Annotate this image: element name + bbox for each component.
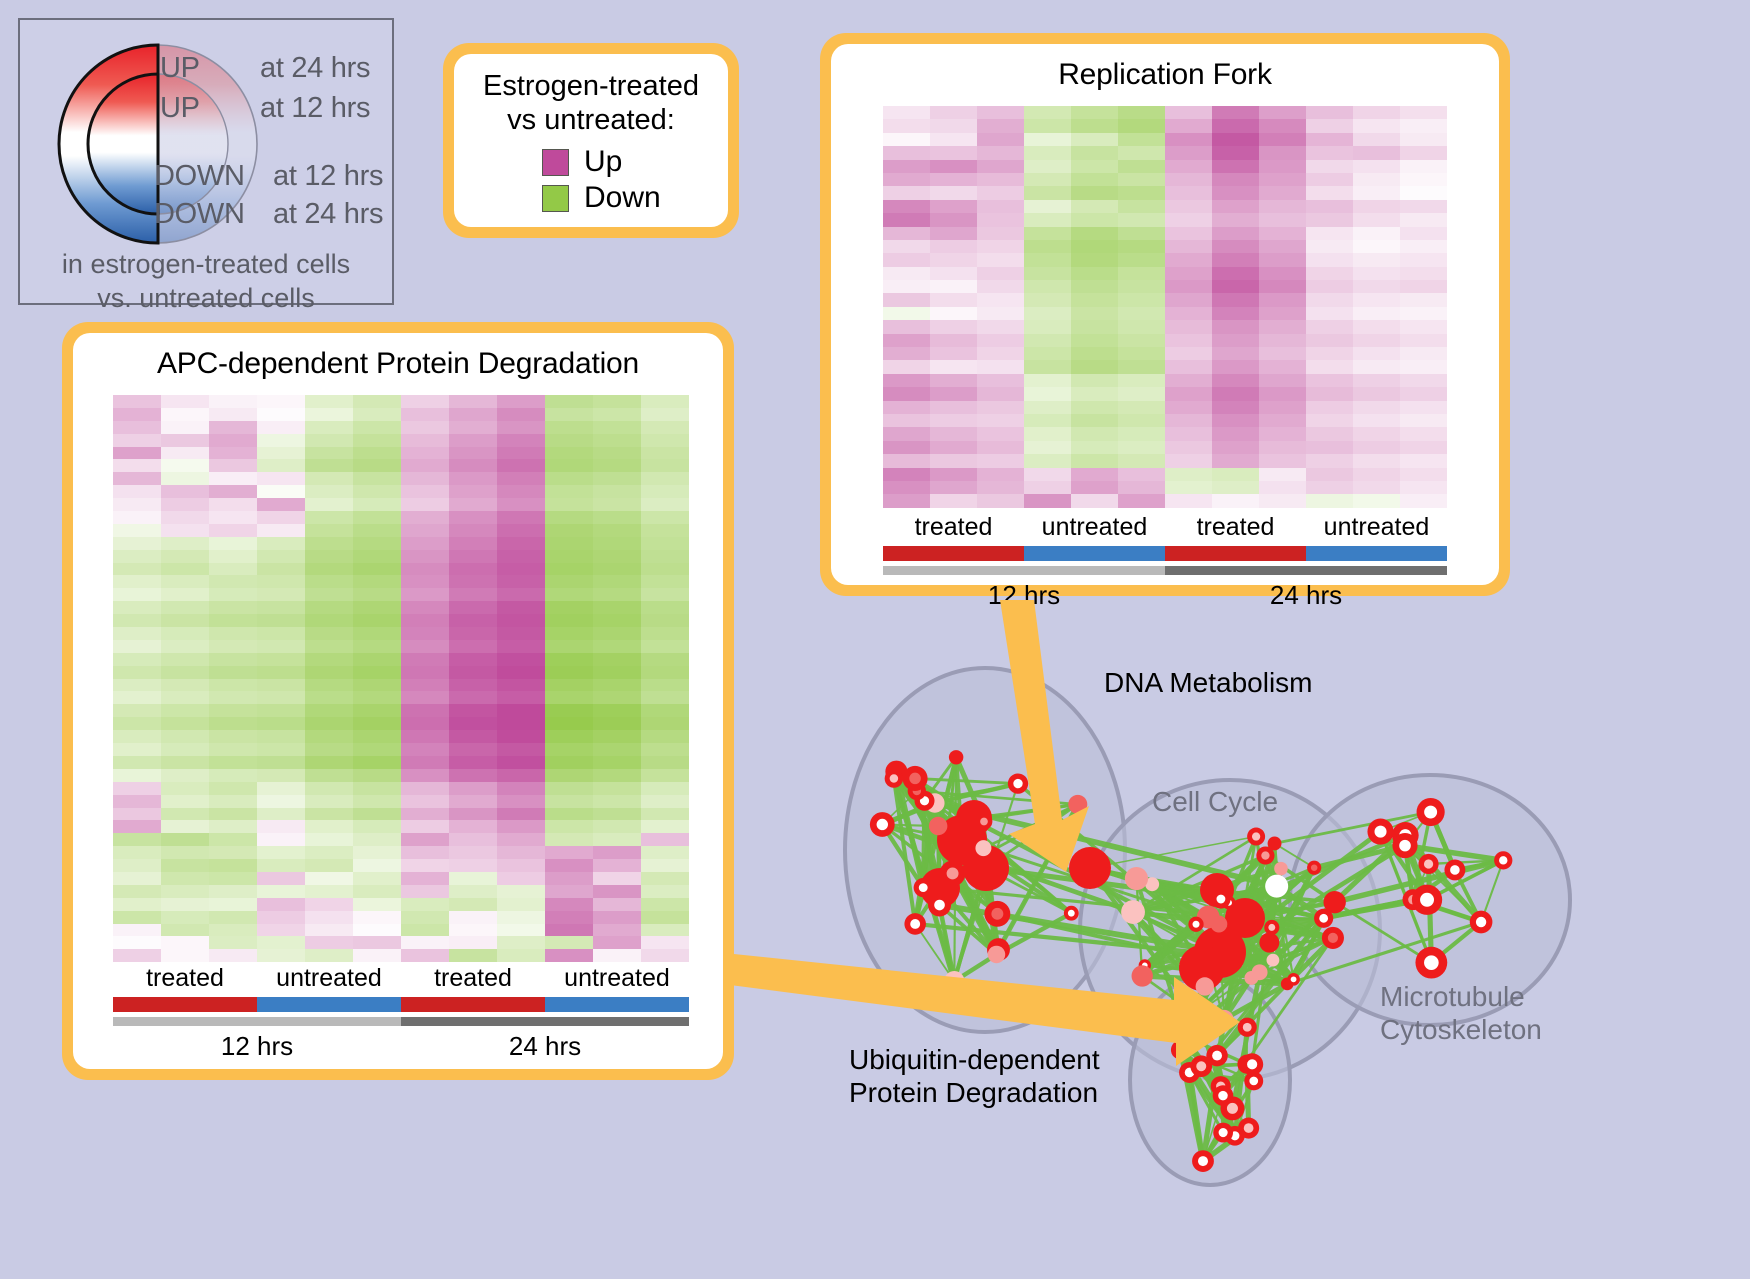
apc-panel: APC-dependent Protein Degradation treate… (62, 322, 734, 1080)
heatmap-cell (161, 666, 209, 679)
network-node[interactable] (1252, 964, 1268, 980)
heatmap-cell (113, 872, 161, 885)
network-node[interactable] (1215, 1010, 1234, 1029)
heatmap-cell (209, 717, 257, 730)
heatmap-cell (449, 833, 497, 846)
heatmap-cell (593, 691, 641, 704)
heatmap-cell (209, 640, 257, 653)
network-node[interactable] (1323, 891, 1345, 913)
heatmap-cell (545, 936, 593, 949)
heatmap-cell (257, 691, 305, 704)
heatmap-cell (641, 949, 689, 962)
heatmap-cell (883, 119, 930, 132)
apc-heatmap (113, 395, 689, 962)
heatmap-cell (161, 898, 209, 911)
heatmap-cell (305, 795, 353, 808)
heatmap-cell (161, 769, 209, 782)
heatmap-cell (930, 441, 977, 454)
heatmap-cell (401, 808, 449, 821)
heatmap-cell (593, 846, 641, 859)
heatmap-cell (883, 441, 930, 454)
heatmap-cell (1353, 427, 1400, 440)
heatmap-cell (497, 614, 545, 627)
heatmap-cell (497, 537, 545, 550)
heatmap-cell (257, 936, 305, 949)
heatmap-cell (305, 550, 353, 563)
heatmap-cell (209, 421, 257, 434)
heatmap-cell (209, 743, 257, 756)
heatmap-cell (353, 485, 401, 498)
heatmap-cell (449, 408, 497, 421)
heatmap-cell (593, 408, 641, 421)
heatmap-cell (1165, 119, 1212, 132)
heatmap-cell (1400, 494, 1447, 507)
heatmap-cell (161, 614, 209, 627)
heatmap-cell (1212, 441, 1259, 454)
heatmap-cell (1071, 320, 1118, 333)
heatmap-cell (113, 717, 161, 730)
heatmap-cell (1118, 186, 1165, 199)
heatmap-cell (1400, 481, 1447, 494)
heatmap-cell (1165, 133, 1212, 146)
heatmap-cell (1071, 468, 1118, 481)
heatmap-cell (641, 537, 689, 550)
heatmap-cell (449, 447, 497, 460)
heatmap-cell (1024, 360, 1071, 373)
network-node[interactable] (949, 750, 963, 764)
heatmap-cell (449, 872, 497, 885)
heatmap-cell (209, 679, 257, 692)
heatmap-cell (1071, 387, 1118, 400)
heatmap-cell (883, 401, 930, 414)
axis-group-label: untreated (1024, 514, 1165, 542)
heatmap-cell (1306, 146, 1353, 159)
heatmap-cell (593, 614, 641, 627)
heatmap-cell (1212, 307, 1259, 320)
axis-treatment-bars (883, 546, 1447, 561)
heatmap-cell (1071, 267, 1118, 280)
heatmap-cell (113, 859, 161, 872)
heatmap-cell (161, 795, 209, 808)
heatmap-cell (641, 885, 689, 898)
network-node[interactable] (1267, 954, 1280, 967)
heatmap-cell (305, 434, 353, 447)
network-node[interactable] (929, 817, 947, 835)
heatmap-cell (883, 414, 930, 427)
heatmap-cell (641, 498, 689, 511)
heatmap-cell (930, 468, 977, 481)
heatmap-cell (1212, 133, 1259, 146)
heatmap-cell (1118, 441, 1165, 454)
heatmap-cell (1353, 494, 1400, 507)
heatmap-cell (883, 240, 930, 253)
heatmap-cell (257, 421, 305, 434)
network-node[interactable] (1068, 795, 1087, 814)
heatmap-cell (593, 601, 641, 614)
heatmap-cell (257, 730, 305, 743)
heatmap-cell (497, 782, 545, 795)
heatmap-cell (305, 911, 353, 924)
heatmap-cell (353, 550, 401, 563)
network-node[interactable] (988, 946, 1006, 964)
heatmap-cell (305, 820, 353, 833)
heatmap-cell (977, 360, 1024, 373)
network-node[interactable] (1121, 900, 1145, 924)
heatmap-cell (977, 481, 1024, 494)
heatmap-cell (305, 898, 353, 911)
heatmap-cell (113, 795, 161, 808)
heatmap-cell (1165, 441, 1212, 454)
heatmap-cell (497, 936, 545, 949)
heatmap-cell (161, 601, 209, 614)
heatmap-cell (209, 575, 257, 588)
cluster-label-microtubule-line1: Microtubule (1380, 980, 1542, 1013)
heatmap-cell (209, 730, 257, 743)
heatmap-cell (1353, 347, 1400, 360)
heatmap-cell (353, 653, 401, 666)
heatmap-cell (1259, 360, 1306, 373)
heatmap-cell (641, 524, 689, 537)
heatmap-cell (449, 679, 497, 692)
heatmap-cell (545, 408, 593, 421)
heatmap-cell (113, 808, 161, 821)
heatmap-cell (593, 743, 641, 756)
heatmap-cell (113, 782, 161, 795)
heatmap-cell (930, 160, 977, 173)
heatmap-cell (545, 730, 593, 743)
heatmap-cell (209, 885, 257, 898)
heatmap-cell (545, 666, 593, 679)
heatmap-cell (593, 756, 641, 769)
heatmap-cell (401, 459, 449, 472)
heatmap-cell (497, 949, 545, 962)
heatmap-cell (257, 833, 305, 846)
network-node[interactable] (1125, 867, 1148, 890)
heatmap-cell (593, 627, 641, 640)
heatmap-cell (593, 550, 641, 563)
heatmap-cell (353, 756, 401, 769)
heatmap-cell (449, 601, 497, 614)
heatmap-cell (1353, 441, 1400, 454)
heatmap-cell (161, 434, 209, 447)
network-node[interactable] (1069, 847, 1111, 889)
heatmap-cell (1400, 441, 1447, 454)
network-node[interactable] (1196, 977, 1214, 995)
heatmap-cell (545, 627, 593, 640)
heatmap-cell (305, 885, 353, 898)
heatmap-cell (1212, 146, 1259, 159)
heatmap-cell (257, 808, 305, 821)
heatmap-cell (1259, 267, 1306, 280)
heatmap-cell (1400, 227, 1447, 240)
heatmap-cell (305, 679, 353, 692)
expression-scale-legend: UP at 24 hrs UP at 12 hrs DOWN at 12 hrs… (18, 18, 394, 305)
heatmap-cell (1212, 173, 1259, 186)
heatmap-cell (930, 227, 977, 240)
heatmap-cell (977, 253, 1024, 266)
heatmap-cell (593, 898, 641, 911)
heatmap-cell (1306, 200, 1353, 213)
heatmap-cell (305, 472, 353, 485)
heatmap-cell (161, 459, 209, 472)
heatmap-cell (401, 820, 449, 833)
heatmap-cell (1024, 468, 1071, 481)
network-node[interactable] (1265, 875, 1288, 898)
heatmap-cell (353, 859, 401, 872)
axis-group-label: untreated (545, 965, 689, 993)
heatmap-cell (593, 485, 641, 498)
heatmap-cell (209, 898, 257, 911)
heatmap-cell (113, 485, 161, 498)
heatmap-cell (1259, 133, 1306, 146)
axis-group-label: treated (1165, 514, 1306, 542)
heatmap-cell (449, 730, 497, 743)
heatmap-cell (209, 653, 257, 666)
heatmap-cell (641, 588, 689, 601)
network-node[interactable] (1274, 862, 1288, 876)
heatmap-cell (113, 511, 161, 524)
heatmap-cell (401, 524, 449, 537)
heatmap-cell (161, 924, 209, 937)
heatmap-cell (449, 924, 497, 937)
heatmap-cell (401, 640, 449, 653)
heatmap-cell (977, 240, 1024, 253)
heatmap-cell (930, 293, 977, 306)
network-node[interactable] (1210, 916, 1227, 933)
heatmap-cell (641, 653, 689, 666)
heatmap-cell (977, 200, 1024, 213)
network-node[interactable] (1259, 933, 1279, 953)
heatmap-cell (593, 666, 641, 679)
treated-bar (401, 997, 545, 1012)
heatmap-cell (883, 387, 930, 400)
heatmap-cell (161, 408, 209, 421)
heatmap-cell (257, 524, 305, 537)
heatmap-cell (161, 575, 209, 588)
heatmap-cell (930, 173, 977, 186)
heatmap-cell (641, 808, 689, 821)
heatmap-cell (401, 395, 449, 408)
heatmap-cell (497, 885, 545, 898)
heatmap-cell (449, 846, 497, 859)
heatmap-cell (1306, 240, 1353, 253)
heatmap-cell (1071, 119, 1118, 132)
heatmap-cell (353, 911, 401, 924)
heatmap-cell (449, 691, 497, 704)
heatmap-cell (353, 782, 401, 795)
heatmap-cell (113, 537, 161, 550)
heatmap-cell (497, 846, 545, 859)
axis-group-label: treated (113, 965, 257, 993)
heatmap-cell (1212, 481, 1259, 494)
heatmap-cell (1118, 494, 1165, 507)
heatmap-cell (641, 795, 689, 808)
heatmap-cell (593, 833, 641, 846)
heatmap-cell (641, 820, 689, 833)
heatmap-cell (401, 859, 449, 872)
heatmap-cell (1024, 240, 1071, 253)
heatmap-cell (353, 820, 401, 833)
heatmap-cell (1259, 427, 1306, 440)
heatmap-cell (1024, 494, 1071, 507)
heatmap-cell (1259, 106, 1306, 119)
heatmap-cell (641, 408, 689, 421)
heatmap-cell (1071, 227, 1118, 240)
heatmap-cell (977, 401, 1024, 414)
heatmap-cell (113, 524, 161, 537)
legend-down-24-time: at 24 hrs (273, 198, 383, 231)
heatmap-cell (1306, 173, 1353, 186)
heatmap-cell (1165, 160, 1212, 173)
estrogen-key-item-up: Up (542, 144, 728, 180)
heatmap-cell (305, 653, 353, 666)
heatmap-cell (1212, 119, 1259, 132)
heatmap-cell (1306, 119, 1353, 132)
heatmap-cell (449, 614, 497, 627)
heatmap-cell (113, 924, 161, 937)
heatmap-cell (545, 511, 593, 524)
heatmap-cell (401, 447, 449, 460)
heatmap-cell (161, 820, 209, 833)
heatmap-cell (1400, 160, 1447, 173)
heatmap-cell (1353, 280, 1400, 293)
heatmap-cell (1071, 494, 1118, 507)
heatmap-cell (545, 537, 593, 550)
heatmap-cell (641, 434, 689, 447)
heatmap-cell (209, 550, 257, 563)
heatmap-cell (305, 666, 353, 679)
network-node[interactable] (1189, 1007, 1202, 1020)
heatmap-cell (401, 717, 449, 730)
heatmap-cell (1165, 253, 1212, 266)
heatmap-cell (1306, 360, 1353, 373)
heatmap-cell (930, 267, 977, 280)
heatmap-cell (113, 679, 161, 692)
heatmap-cell (930, 427, 977, 440)
heatmap-cell (545, 524, 593, 537)
estrogen-key-title: Estrogen-treated vs untreated: (454, 70, 728, 137)
heatmap-cell (113, 769, 161, 782)
heatmap-cell (593, 782, 641, 795)
heatmap-cell (209, 408, 257, 421)
heatmap-cell (545, 820, 593, 833)
heatmap-cell (1259, 468, 1306, 481)
heatmap-cell (113, 666, 161, 679)
heatmap-cell (1165, 106, 1212, 119)
heatmap-cell (497, 833, 545, 846)
heatmap-cell (1024, 106, 1071, 119)
heatmap-cell (209, 563, 257, 576)
heatmap-cell (1118, 213, 1165, 226)
heatmap-cell (257, 537, 305, 550)
heatmap-cell (497, 588, 545, 601)
heatmap-cell (1259, 240, 1306, 253)
heatmap-cell (1259, 387, 1306, 400)
heatmap-cell (161, 627, 209, 640)
heatmap-cell (113, 472, 161, 485)
heatmap-cell (209, 537, 257, 550)
heatmap-cell (113, 601, 161, 614)
heatmap-cell (209, 949, 257, 962)
heatmap-cell (353, 421, 401, 434)
heatmap-cell (161, 756, 209, 769)
up-swatch-label: Up (584, 147, 622, 177)
heatmap-cell (1024, 253, 1071, 266)
heatmap-cell (977, 280, 1024, 293)
heatmap-cell (593, 820, 641, 833)
heatmap-cell (1118, 427, 1165, 440)
heatmap-cell (641, 924, 689, 937)
heatmap-cell (1165, 320, 1212, 333)
heatmap-cell (930, 213, 977, 226)
heatmap-cell (449, 537, 497, 550)
heatmap-cell (1353, 160, 1400, 173)
heatmap-cell (1259, 414, 1306, 427)
heatmap-cell (1024, 347, 1071, 360)
heatmap-cell (449, 485, 497, 498)
heatmap-cell (545, 846, 593, 859)
heatmap-cell (401, 833, 449, 846)
heatmap-cell (977, 146, 1024, 159)
heatmap-cell (353, 537, 401, 550)
heatmap-cell (209, 395, 257, 408)
heatmap-cell (1353, 481, 1400, 494)
heatmap-cell (883, 173, 930, 186)
heatmap-cell (113, 640, 161, 653)
heatmap-cell (449, 575, 497, 588)
heatmap-cell (1353, 240, 1400, 253)
heatmap-cell (161, 395, 209, 408)
heatmap-cell (257, 447, 305, 460)
heatmap-cell (401, 563, 449, 576)
heatmap-cell (641, 511, 689, 524)
heatmap-cell (497, 756, 545, 769)
heatmap-cell (209, 472, 257, 485)
heatmap-cell (1118, 401, 1165, 414)
heatmap-cell (113, 756, 161, 769)
heatmap-cell (353, 833, 401, 846)
heatmap-cell (209, 911, 257, 924)
heatmap-cell (1165, 427, 1212, 440)
heatmap-cell (1306, 307, 1353, 320)
heatmap-cell (1259, 401, 1306, 414)
functional-module-network[interactable] (790, 600, 1750, 1279)
heatmap-cell (1259, 347, 1306, 360)
heatmap-cell (161, 949, 209, 962)
network-node[interactable] (975, 840, 991, 856)
heatmap-cell (305, 627, 353, 640)
network-node[interactable] (944, 971, 964, 991)
heatmap-cell (593, 537, 641, 550)
network-node[interactable] (1132, 965, 1153, 986)
heatmap-cell (593, 640, 641, 653)
heatmap-cell (1024, 374, 1071, 387)
heatmap-cell (353, 846, 401, 859)
heatmap-cell (305, 743, 353, 756)
heatmap-cell (593, 679, 641, 692)
heatmap-cell (641, 846, 689, 859)
heatmap-cell (305, 717, 353, 730)
heatmap-cell (1400, 401, 1447, 414)
heatmap-cell (1024, 146, 1071, 159)
heatmap-cell (1400, 468, 1447, 481)
heatmap-cell (1024, 227, 1071, 240)
cluster-label-microtubule-line2: Cytoskeleton (1380, 1013, 1542, 1046)
heatmap-cell (257, 924, 305, 937)
heatmap-cell (113, 459, 161, 472)
heatmap-cell (353, 795, 401, 808)
heatmap-cell (1400, 293, 1447, 306)
